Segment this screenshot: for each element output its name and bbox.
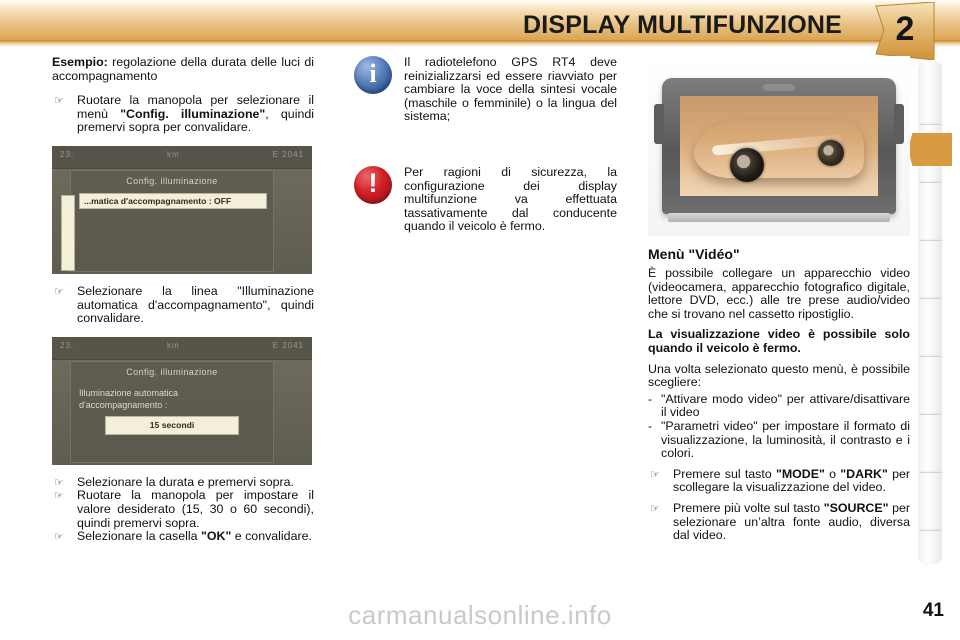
middle-column: i Il radiotelefono GPS RT4 deve reinizia… bbox=[352, 56, 617, 234]
bezel-notch bbox=[763, 84, 795, 91]
status-right: E 2041 bbox=[273, 150, 304, 162]
example-label: Esempio: bbox=[52, 55, 108, 69]
info-notice: i Il radiotelefono GPS RT4 deve reinizia… bbox=[352, 56, 617, 124]
instruction-bullet: ☞ Selezionare la casella "OK" e convalid… bbox=[52, 530, 314, 544]
video-menu-paragraph-1: È possibile collegare un apparecchio vid… bbox=[648, 267, 910, 321]
video-option-text: "Parametri video" per impostare il forma… bbox=[661, 419, 910, 460]
tab-segment[interactable] bbox=[920, 530, 942, 563]
status-mid: km bbox=[167, 150, 180, 162]
car-front-wheel bbox=[730, 148, 764, 182]
screenshot-label-line-2: d'accompagnamento : bbox=[79, 400, 167, 410]
video-menu-warning-bold: La visualizzazione video è possibile sol… bbox=[648, 328, 910, 355]
warning-circle-icon: ! bbox=[354, 166, 392, 204]
screenshot-inner: 23: km E 2041 Config. illuminazione ...m… bbox=[52, 146, 312, 274]
bullet-text: Selezionare la linea "Illuminazione auto… bbox=[77, 284, 314, 325]
info-circle-icon: i bbox=[354, 56, 392, 94]
pointing-hand-icon: ☞ bbox=[54, 286, 64, 299]
chapter-badge: 2 bbox=[872, 2, 938, 60]
warning-glyph: ! bbox=[354, 166, 392, 204]
video-option-text: "Attivare modo video" per attivare/disat… bbox=[661, 392, 910, 420]
example-paragraph: Esempio: regolazione della durata delle … bbox=[52, 56, 314, 83]
bullet-text-part: e convalidare. bbox=[231, 529, 312, 543]
bullet-text-part-bold: "OK" bbox=[201, 529, 231, 543]
bullet-text: Selezionare la durata e premervi sopra. bbox=[77, 475, 294, 489]
bullet-text-part: o bbox=[825, 467, 840, 481]
pointing-hand-icon: ☞ bbox=[54, 95, 64, 108]
video-screen-content bbox=[680, 96, 878, 196]
screenshot-menu-title: Config. illuminazione bbox=[71, 367, 273, 377]
dash-marker: - bbox=[648, 420, 652, 434]
screenshot-menu-panel: Config. illuminazione Illuminazione auto… bbox=[70, 361, 274, 463]
status-left: 23: bbox=[60, 150, 74, 162]
display-base bbox=[668, 213, 890, 222]
instruction-bullet: ☞ Ruotare la manopola per selezionare il… bbox=[52, 94, 314, 135]
section-heading-video-menu: Menù "Vidéo" bbox=[648, 246, 910, 262]
video-display-photo bbox=[648, 56, 910, 236]
left-column: Esempio: regolazione della durata delle … bbox=[52, 56, 314, 544]
bullet-text-part-bold: "Config. illuminazione" bbox=[120, 107, 265, 121]
screenshot-status-text: 23: km E 2041 bbox=[60, 150, 304, 162]
bullet-text-part-bold: "DARK" bbox=[840, 467, 888, 481]
bezel-side-left bbox=[654, 104, 664, 144]
info-notice-text: Il radiotelefono GPS RT4 deve reiniziali… bbox=[404, 56, 617, 124]
chapter-number: 2 bbox=[872, 2, 938, 60]
bullet-text-part: Premere più volte sul tasto bbox=[673, 501, 824, 515]
instruction-bullet: ☞ Selezionare la durata e premervi sopra… bbox=[52, 476, 314, 490]
bezel-side-right bbox=[894, 104, 904, 144]
status-mid: km bbox=[167, 341, 180, 353]
screenshot-inner: 23: km E 2041 Config. illuminazione Illu… bbox=[52, 337, 312, 465]
screenshot-label-line-1: Illuminazione automatica bbox=[79, 388, 178, 398]
bullet-text-part-bold: "SOURCE" bbox=[824, 501, 889, 515]
tab-segment[interactable] bbox=[920, 62, 942, 124]
status-right: E 2041 bbox=[273, 341, 304, 353]
bullet-text-part-bold: "MODE" bbox=[776, 467, 825, 481]
pointing-hand-icon: ☞ bbox=[650, 469, 660, 482]
pointing-hand-icon: ☞ bbox=[54, 477, 64, 490]
tab-segment[interactable] bbox=[920, 298, 942, 357]
tab-segment[interactable] bbox=[920, 240, 942, 299]
instruction-bullet: ☞ Ruotare la manopola per impostare il v… bbox=[52, 489, 314, 530]
site-watermark: carmanualsonline.info bbox=[0, 600, 960, 631]
instruction-bullet: ☞ Premere sul tasto "MODE" o "DARK" per … bbox=[648, 468, 910, 495]
warning-notice-text: Per ragioni di sicurezza, la configurazi… bbox=[404, 166, 617, 234]
pointing-hand-icon: ☞ bbox=[54, 490, 64, 503]
display-bezel bbox=[662, 78, 896, 214]
active-chapter-tab[interactable] bbox=[908, 133, 952, 166]
tab-segment[interactable] bbox=[920, 414, 942, 473]
spacer bbox=[352, 124, 617, 166]
instruction-bullet: ☞ Selezionare la linea "Illuminazione au… bbox=[52, 285, 314, 326]
dash-marker: - bbox=[648, 393, 652, 407]
screenshot-menu-title: Config. illuminazione bbox=[71, 176, 273, 186]
video-option-item: - "Attivare modo video" per attivare/dis… bbox=[648, 393, 910, 420]
display-screenshot-illumination-menu: 23: km E 2041 Config. illuminazione ...m… bbox=[52, 146, 312, 274]
page-number: 41 bbox=[923, 600, 944, 622]
spacer bbox=[52, 326, 314, 337]
screenshot-status-text: 23: km E 2041 bbox=[60, 341, 304, 353]
video-option-item: - "Parametri video" per impostare il for… bbox=[648, 420, 910, 461]
screenshot-selected-row: ...matica d'accompagnamento : OFF bbox=[79, 193, 267, 209]
car-rear-wheel bbox=[818, 140, 844, 166]
screenshot-value-box: 15 secondi bbox=[105, 416, 239, 435]
pointing-hand-icon: ☞ bbox=[650, 503, 660, 516]
tab-segment[interactable] bbox=[920, 356, 942, 415]
page-title: DISPLAY MULTIFUNZIONE bbox=[523, 11, 842, 40]
video-menu-paragraph-3: Una volta selezionato questo menù, è pos… bbox=[648, 363, 910, 390]
display-screenshot-duration-setting: 23: km E 2041 Config. illuminazione Illu… bbox=[52, 337, 312, 465]
pointing-hand-icon: ☞ bbox=[54, 531, 64, 544]
screenshot-scrollbar bbox=[61, 195, 75, 271]
spacer bbox=[52, 135, 314, 146]
spacer bbox=[648, 236, 910, 246]
warning-notice: ! Per ragioni di sicurezza, la configura… bbox=[352, 166, 617, 234]
screenshot-menu-panel: Config. illuminazione ...matica d'accomp… bbox=[70, 170, 274, 272]
info-glyph: i bbox=[354, 56, 392, 94]
header-divider-shadow bbox=[0, 44, 960, 47]
instruction-bullet: ☞ Premere più volte sul tasto "SOURCE" p… bbox=[648, 502, 910, 543]
tab-segment-active[interactable] bbox=[920, 182, 942, 241]
bullet-text-part: Selezionare la casella bbox=[77, 529, 201, 543]
status-left: 23: bbox=[60, 341, 74, 353]
right-column: Menù "Vidéo" È possibile collegare un ap… bbox=[648, 56, 910, 543]
bullet-text-part: Premere sul tasto bbox=[673, 467, 776, 481]
bullet-text: Ruotare la manopola per impostare il val… bbox=[77, 488, 314, 529]
tab-segment[interactable] bbox=[920, 472, 942, 531]
